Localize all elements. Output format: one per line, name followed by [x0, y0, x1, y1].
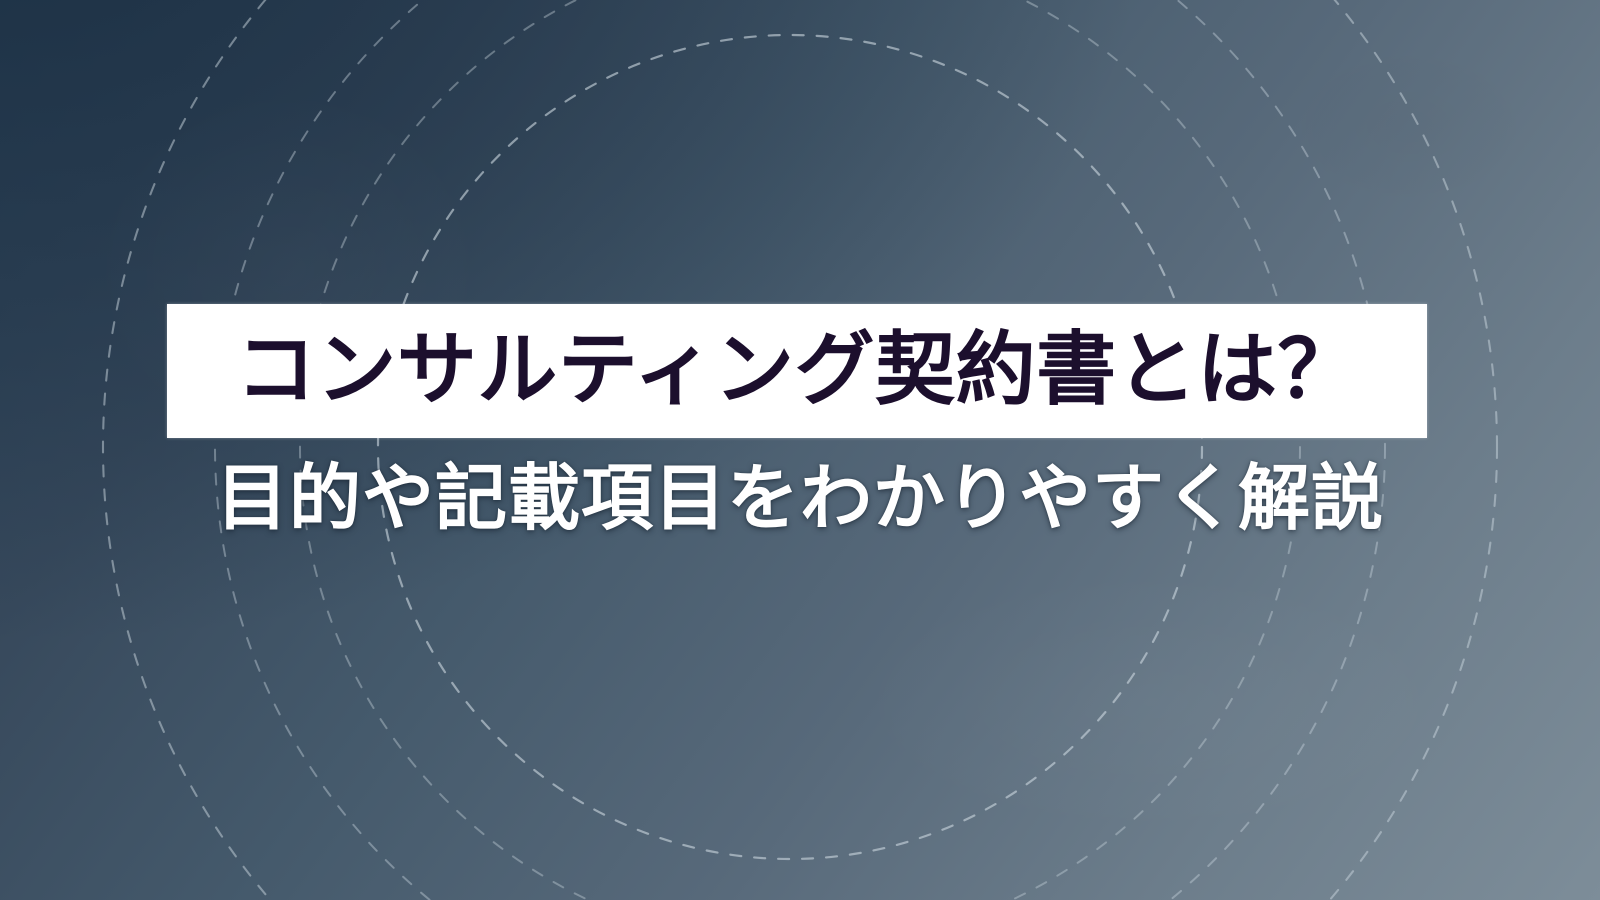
- title-slide: コンサルティング契約書とは？ 目的や記載項目をわかりやすく解説: [0, 0, 1600, 900]
- decorative-concentric-rings: [0, 0, 1600, 900]
- ring-outer-3: [215, 0, 1385, 900]
- ring-outer-2: [300, 0, 1300, 900]
- page-title: コンサルティング契約書とは？: [236, 330, 1358, 410]
- ring-inner-1: [378, 35, 1202, 859]
- ring-outer-4: [103, 0, 1497, 900]
- title-highlight-band: コンサルティング契約書とは？: [167, 304, 1427, 438]
- page-subtitle: 目的や記載項目をわかりやすく解説: [0, 463, 1600, 535]
